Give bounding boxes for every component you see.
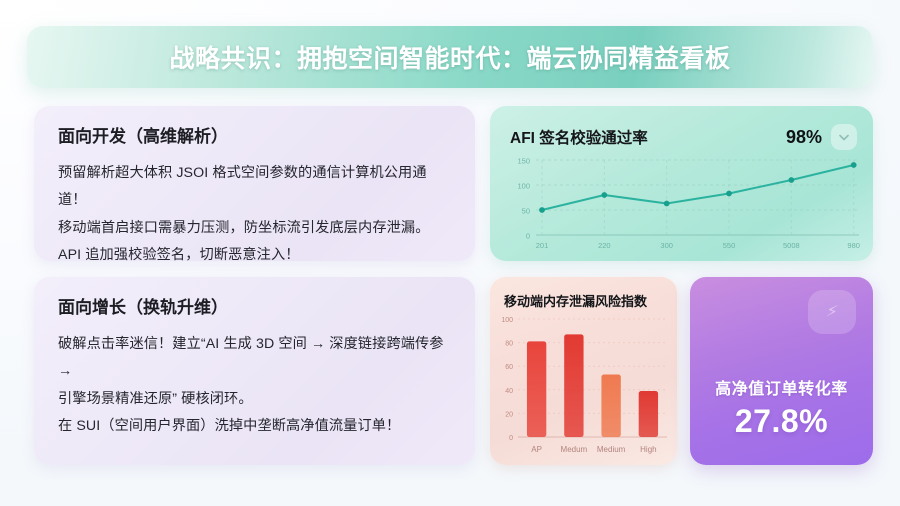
chevron-down-icon[interactable]: [831, 124, 857, 150]
card-growth-line-3: 在 SUI（空间用户界面）洗掉中垄断高净值流量订单！: [58, 413, 451, 440]
card-conversion-kpi: ⚡ 高净值订单转化率 27.8%: [690, 277, 873, 465]
afi-header-row: AFI 签名校验通过率 98%: [510, 122, 857, 152]
kpi-label: 高净值订单转化率: [690, 375, 873, 399]
svg-text:0: 0: [509, 435, 513, 442]
lightning-glyph: ⚡: [825, 301, 840, 322]
svg-text:980: 980: [847, 241, 860, 250]
card-growth-line-2: 引擎场景精准还原” 硬核闭环。: [58, 386, 451, 413]
svg-text:100: 100: [501, 317, 513, 324]
svg-text:150: 150: [517, 157, 530, 166]
kpi-value: 27.8%: [690, 403, 873, 440]
svg-text:20: 20: [505, 411, 513, 418]
card-memory-leak-risk: 移动端内存泄漏风险指数 020406080100APMedumMediumHig…: [490, 277, 677, 465]
svg-text:40: 40: [505, 388, 513, 395]
svg-text:AP: AP: [531, 445, 542, 454]
svg-text:100: 100: [517, 182, 530, 191]
svg-text:0: 0: [526, 232, 530, 241]
slide-header-banner: 战略共识：拥抱空间智能时代：端云协同精益看板: [27, 26, 873, 88]
page-title: 战略共识：拥抱空间智能时代：端云协同精益看板: [169, 39, 730, 75]
card-afi-pass-rate: AFI 签名校验通过率 98% 050100150201220300550500…: [490, 106, 873, 261]
afi-value: 98%: [786, 127, 822, 148]
svg-text:Medum: Medum: [561, 445, 588, 454]
svg-text:550: 550: [723, 241, 736, 250]
risk-chart-title: 移动端内存泄漏风险指数: [504, 291, 667, 310]
afi-line-chart: 0501001502012203005505008980: [498, 154, 867, 257]
slide-canvas: 战略共识：拥抱空间智能时代：端云协同精益看板 面向开发（高维解析） 预留解析超大…: [0, 0, 900, 506]
card-development-line-3: API 追加强校验签名，切断恶意注入！: [58, 242, 451, 261]
lightning-icon: ⚡: [808, 290, 856, 334]
card-development-heading: 面向开发（高维解析）: [58, 126, 451, 148]
afi-value-group: 98%: [786, 124, 857, 150]
afi-chart-title: AFI 签名校验通过率: [510, 126, 648, 148]
card-growth-heading: 面向增长（换轨升维）: [58, 297, 451, 319]
card-development-line-2: 移动端首启接口需暴力压测，防坐标流引发底层内存泄漏。: [58, 215, 451, 242]
svg-text:300: 300: [660, 241, 673, 250]
risk-bar-chart: 020406080100APMedumMediumHigh: [492, 313, 673, 463]
card-development-line-1: 预留解析超大体积 JSOI 格式空间参数的通信计算机公用通道！: [58, 160, 451, 215]
card-growth: 面向增长（换轨升维） 破解点击率迷信！建立“AI 生成 3D 空间 → 深度链接…: [34, 277, 475, 465]
card-growth-line-1: 破解点击率迷信！建立“AI 生成 3D 空间 → 深度链接跨端传参 →: [58, 331, 451, 386]
card-development: 面向开发（高维解析） 预留解析超大体积 JSOI 格式空间参数的通信计算机公用通…: [34, 106, 475, 261]
svg-text:50: 50: [522, 207, 530, 216]
svg-text:201: 201: [536, 241, 549, 250]
svg-text:60: 60: [505, 364, 513, 371]
svg-text:High: High: [640, 445, 656, 454]
svg-text:220: 220: [598, 241, 611, 250]
svg-text:Medium: Medium: [597, 445, 626, 454]
svg-text:80: 80: [505, 341, 513, 348]
svg-text:5008: 5008: [783, 241, 800, 250]
